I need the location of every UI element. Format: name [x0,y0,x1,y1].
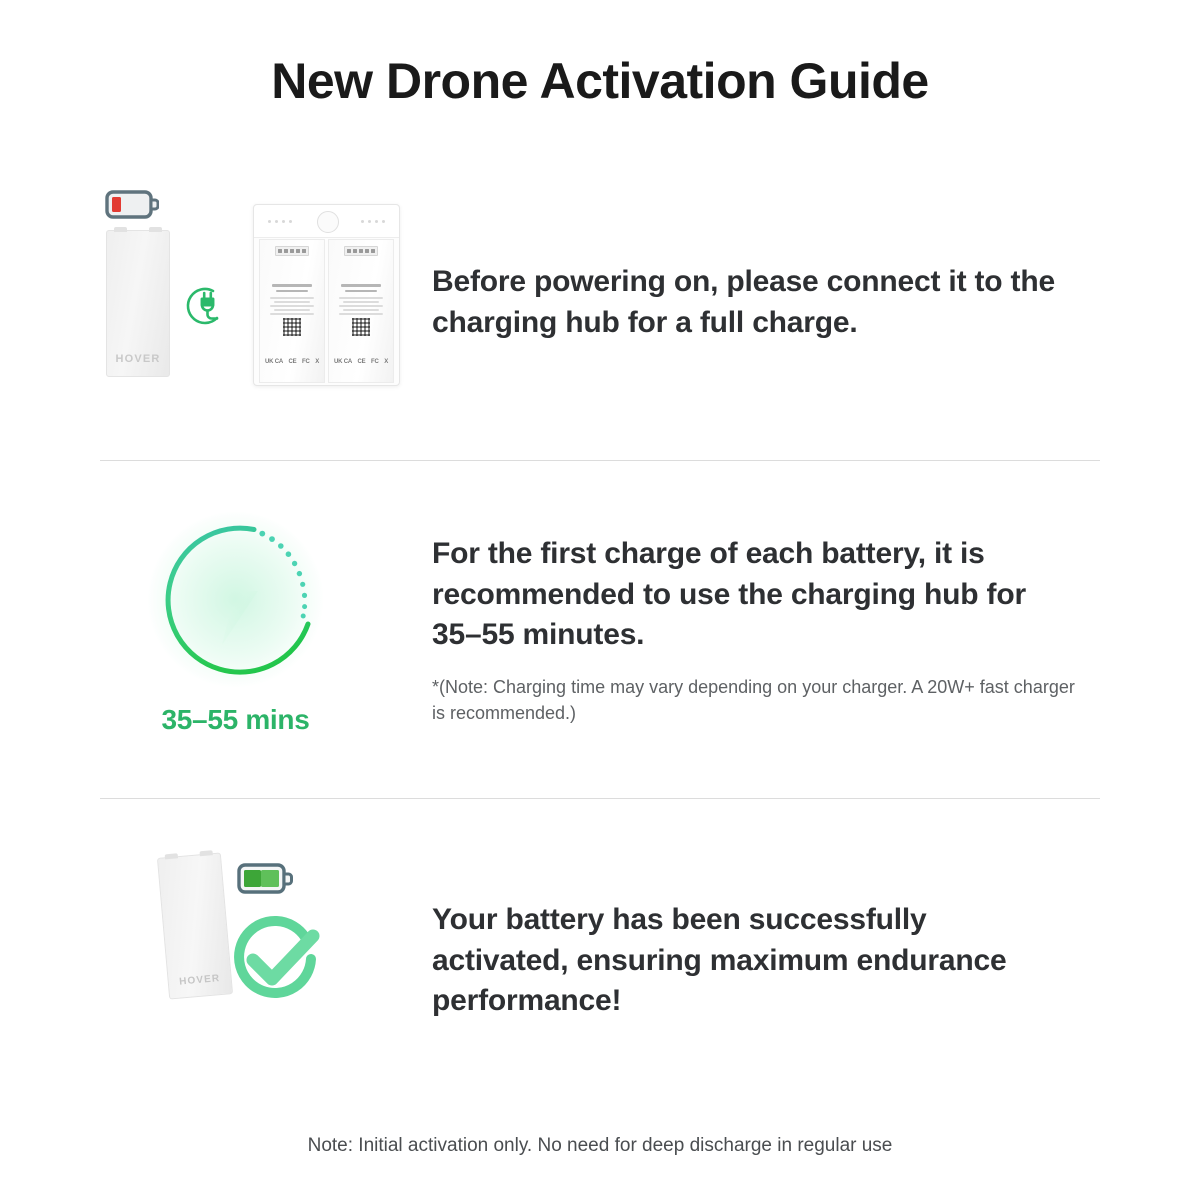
qr-code [352,318,370,336]
section-divider [100,460,1100,461]
hub-led-group-right [361,220,385,223]
battery-connector [344,246,378,256]
activation-guide-page: New Drone Activation Guide HOVER [0,0,1200,1200]
hub-battery-bay: UK CACE FCX [328,239,394,383]
battery-spec-label [335,284,387,317]
hub-battery-bay: UK CACE FCX [259,239,325,383]
certification-marks: UK CACE FCX [334,359,388,366]
section-1-heading: Before powering on, please connect it to… [432,262,1092,343]
section-3-heading: Your battery has been successfully activ… [432,900,1052,1022]
full-battery-icon [237,863,293,895]
hover-battery-pack: HOVER [157,852,233,999]
certification-marks: UK CACE FCX [265,359,319,366]
hub-led-group-left [268,220,292,223]
ring-glow [148,512,323,687]
battery-brand-label: HOVER [168,972,231,988]
section-2-text: For the first charge of each battery, it… [432,534,1082,726]
footer-note: Note: Initial activation only. No need f… [0,1135,1200,1157]
section-3-illustration: HOVER [155,845,340,1020]
hub-power-button[interactable] [317,211,339,233]
charging-progress-ring [148,512,323,687]
section-2-note: *(Note: Charging time may vary depending… [432,674,1082,726]
battery-connector [275,246,309,256]
power-plug-icon [183,282,231,330]
hover-battery-pack: HOVER [106,230,170,377]
hub-top-panel [254,205,399,238]
section-divider [100,798,1100,799]
battery-tab-right [200,850,213,856]
low-battery-icon [105,190,159,219]
success-check-icon [227,907,327,1007]
page-title: New Drone Activation Guide [0,52,1200,110]
qr-code [283,318,301,336]
battery-spec-label [266,284,318,317]
charging-hub: UK CACE FCX UK CACE FCX [253,204,400,386]
battery-brand-label: HOVER [107,353,169,365]
section-2-illustration: 35–55 mins [148,512,323,742]
section-1-illustration: HOVER [95,180,405,395]
section-2-heading: For the first charge of each battery, it… [432,534,1082,656]
battery-tab-left [165,853,178,859]
section-1-text: Before powering on, please connect it to… [432,262,1092,343]
charge-duration-label: 35–55 mins [148,704,323,736]
battery-tab-left [114,227,127,232]
battery-tab-right [149,227,162,232]
section-3-text: Your battery has been successfully activ… [432,900,1052,1022]
